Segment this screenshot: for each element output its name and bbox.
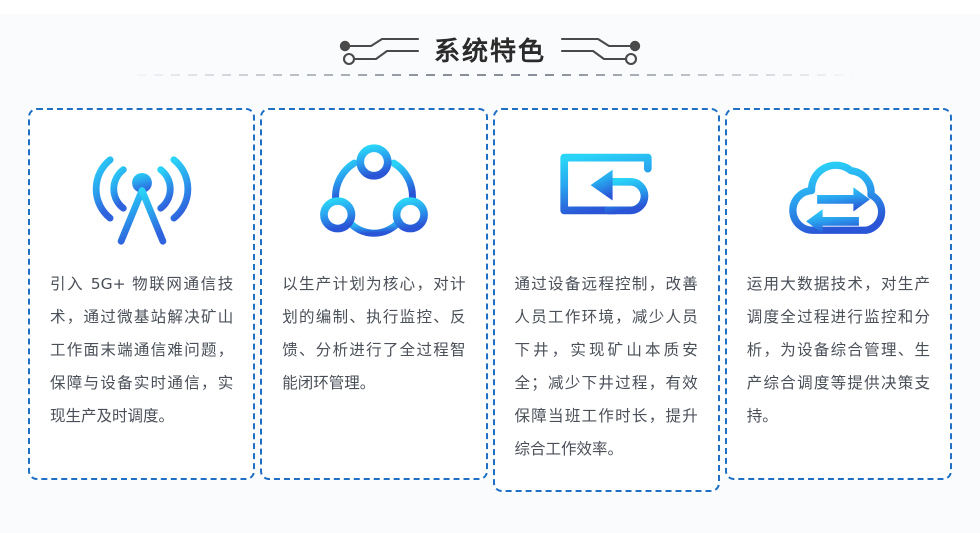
feature-card-text: 运用大数据技术，对生产调度全过程进行监控和分析，为设备综合管理、生产综合调度等提… xyxy=(747,268,930,433)
closed-loop-cycle-icon xyxy=(319,140,429,250)
page-title: 系统特色 xyxy=(434,35,546,69)
dashed-divider xyxy=(120,74,860,76)
signal-tower-icon xyxy=(87,140,197,250)
feature-card[interactable]: 通过设备远程控制，改善人员工作环境，减少人员下井，实现矿山本质安全；减少下井过程… xyxy=(493,108,720,492)
feature-card-text: 以生产计划为核心，对计划的编制、执行监控、反馈、分析进行了全过程智能闭环管理。 xyxy=(282,268,465,400)
feature-card-text: 通过设备远程控制，改善人员工作环境，减少人员下井，实现矿山本质安全；减少下井过程… xyxy=(515,268,698,466)
feature-card[interactable]: 引入 5G+ 物联网通信技术，通过微基站解决矿山工作面末端通信难问题，保障与设备… xyxy=(28,108,255,480)
feature-card-list: 引入 5G+ 物联网通信技术，通过微基站解决矿山工作面末端通信难问题，保障与设备… xyxy=(28,108,952,492)
circuit-trace-right-icon xyxy=(560,35,644,69)
feature-card-text: 引入 5G+ 物联网通信技术，通过微基站解决矿山工作面末端通信难问题，保障与设备… xyxy=(50,268,233,433)
feature-card[interactable]: 以生产计划为核心，对计划的编制、执行监控、反馈、分析进行了全过程智能闭环管理。 xyxy=(260,108,487,480)
feature-card[interactable]: 运用大数据技术，对生产调度全过程进行监控和分析，为设备综合管理、生产综合调度等提… xyxy=(725,108,952,480)
remote-monitor-control-icon xyxy=(551,140,661,250)
cloud-data-exchange-icon xyxy=(783,140,893,250)
section-header: 系统特色 xyxy=(0,26,980,78)
system-features-section: 系统特色 xyxy=(0,0,980,533)
circuit-trace-left-icon xyxy=(336,35,420,69)
